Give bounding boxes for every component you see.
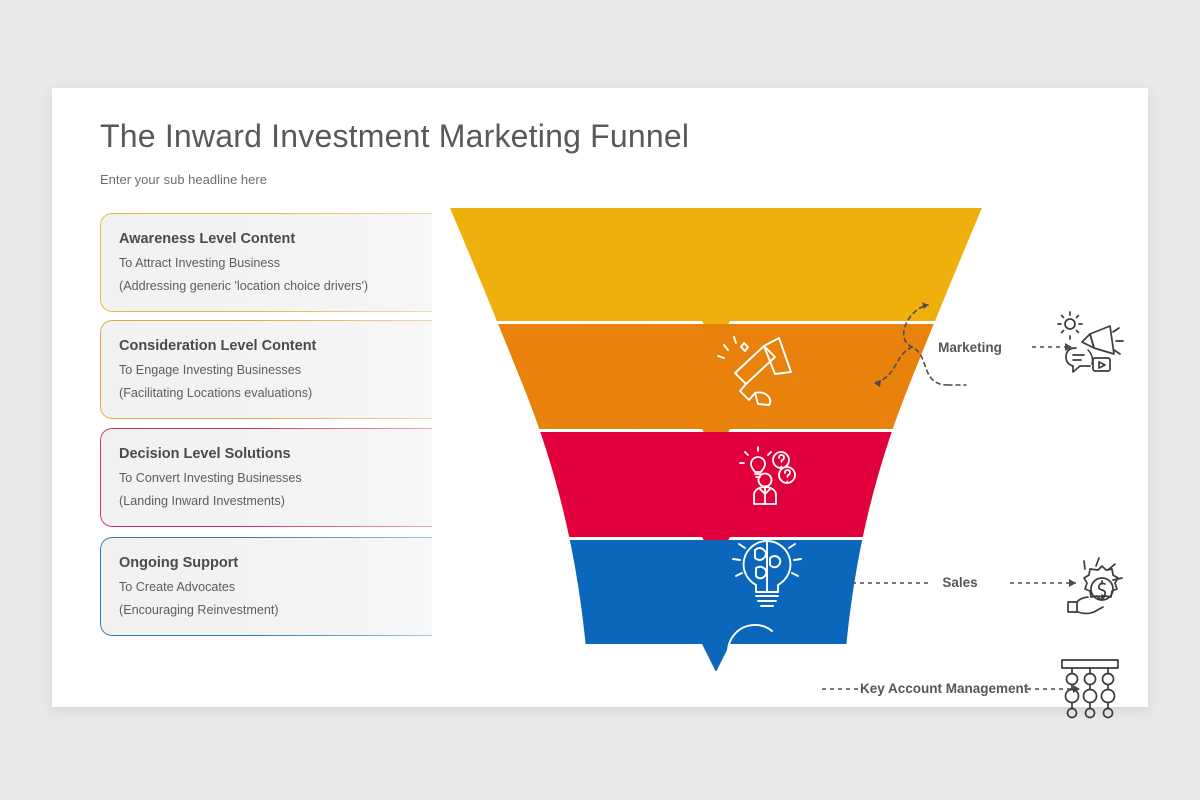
band-shape-ongoing-support: [638, 540, 794, 671]
stage-card-awareness[interactable]: Awareness Level Content To Attract Inves…: [100, 213, 648, 312]
stage-card-line1: To Convert Investing Businesses: [119, 471, 302, 485]
stage-card-line2: (Landing Inward Investments): [119, 494, 285, 508]
channel-label-sales: Sales: [910, 575, 1010, 590]
megaphone-gear-icon: [1052, 310, 1124, 382]
org-chart-icon: [1054, 652, 1126, 724]
stage-card-title: Decision Level Solutions: [119, 446, 291, 462]
puzzle-bulb-icon: [733, 541, 801, 606]
person-ideas-icon: [740, 447, 795, 504]
svg-text:7: 7: [774, 674, 785, 695]
megaphone-icon: [718, 337, 791, 405]
stage-card-ongoing-support[interactable]: Ongoing Support To Create Advocates (Enc…: [100, 537, 648, 636]
page-subtitle: Enter your sub headline here: [100, 172, 267, 187]
stage-card-line1: To Engage Investing Businesses: [119, 363, 301, 377]
stage-card-line1: To Attract Investing Business: [119, 256, 280, 270]
stage-card-line2: (Addressing generic 'location choice dri…: [119, 279, 368, 293]
stage-card-title: Awareness Level Content: [119, 231, 295, 247]
channel-label-marketing: Marketing: [910, 340, 1030, 355]
stage-card-consideration[interactable]: Consideration Level Content To Engage In…: [100, 320, 648, 419]
stage-card-decision[interactable]: Decision Level Solutions To Convert Inve…: [100, 428, 648, 527]
svg-text:24: 24: [750, 664, 772, 685]
stage-card-line1: To Create Advocates: [119, 580, 235, 594]
funnel-band-ongoing-support: [638, 540, 794, 671]
money-badge-icon: [1052, 548, 1124, 620]
slide-canvas: The Inward Investment Marketing Funnel E…: [52, 88, 1148, 707]
stage-card-title: Ongoing Support: [119, 555, 238, 571]
stage-card-line2: (Facilitating Locations evaluations): [119, 386, 312, 400]
channel-label-key-account-management: Key Account Management: [860, 681, 1024, 696]
support-247-icon: 24 7: [728, 625, 798, 695]
stage-card-line2: (Encouraging Reinvestment): [119, 603, 279, 617]
marketing-branch-connector: [850, 243, 970, 393]
page-title: The Inward Investment Marketing Funnel: [100, 118, 689, 155]
stage-card-title: Consideration Level Content: [119, 338, 316, 354]
